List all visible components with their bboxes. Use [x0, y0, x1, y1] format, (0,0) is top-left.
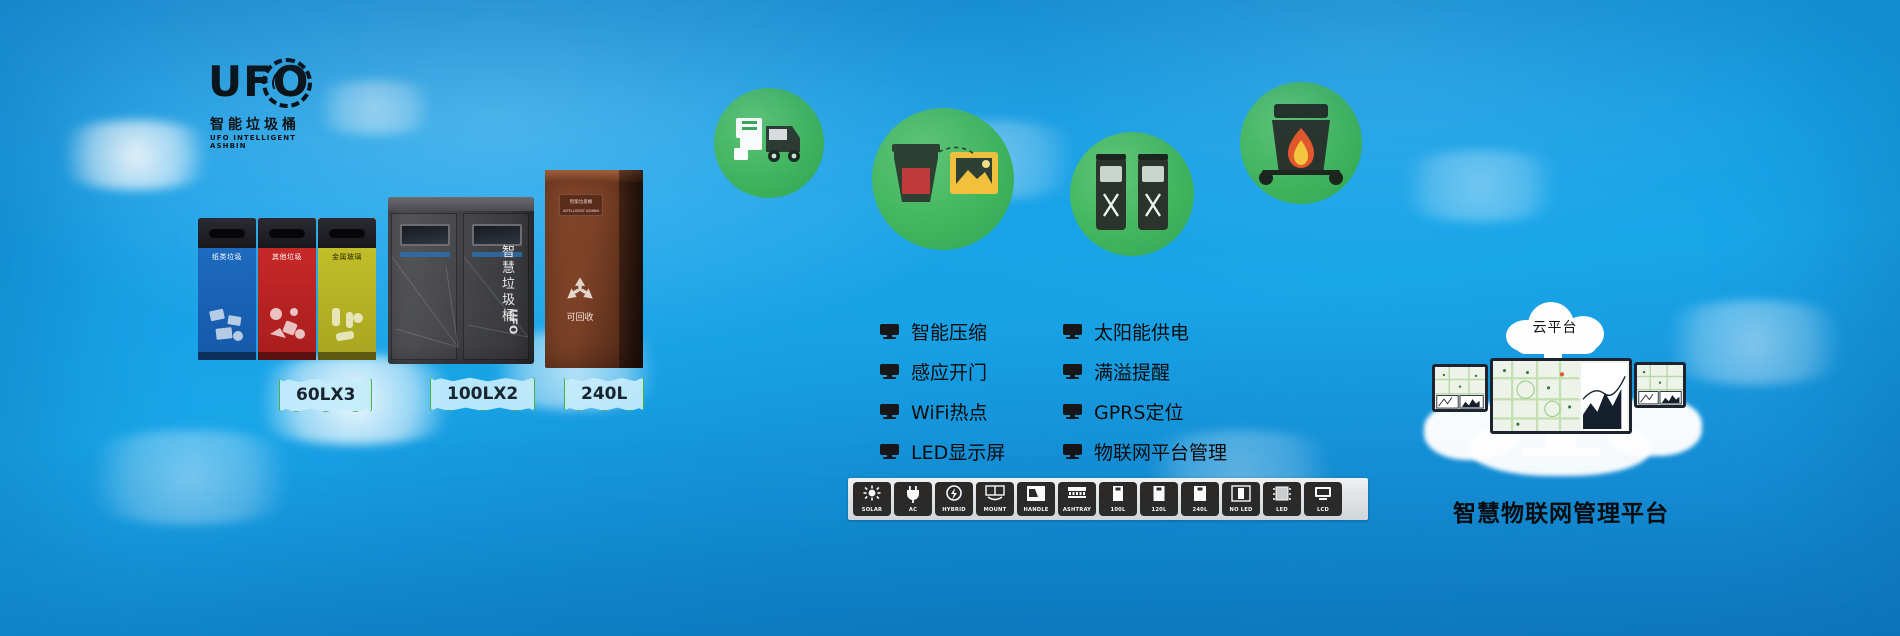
twin-compacting-bin: 智慧垃圾桶 UFO [388, 197, 534, 364]
spec-icon-strip: SOLAR AC HYBRID MOUNT [848, 478, 1368, 520]
twin-bin-circle [1070, 132, 1194, 256]
spec-ashtray: ASHTRAY [1058, 482, 1096, 516]
feature-item: 物联网平台管理 [1063, 438, 1240, 465]
three-compartment-sorting-bin: 纸类垃圾 其他垃圾 [198, 218, 386, 360]
bin-slot [209, 229, 245, 238]
feature-label: 智能压缩 [911, 318, 987, 345]
spec-caption: HANDLE [1023, 507, 1048, 513]
no-led-icon [1230, 485, 1252, 503]
cloud-platform-badge: 云平台 [1506, 300, 1604, 352]
spec-led: LED [1263, 482, 1301, 516]
spec-solar: SOLAR [853, 482, 891, 516]
platform-caption: 智慧物联网管理平台 [1430, 494, 1692, 528]
fire-alarm-circle [1240, 82, 1362, 204]
bin-lid [258, 218, 316, 248]
panel-line-2: INTELLIGENT ASHBIN [560, 209, 602, 213]
spec-caption: SOLAR [862, 507, 882, 513]
feature-label: 太阳能供电 [1094, 318, 1189, 345]
capacity-ribbon-240l: 240L [564, 377, 644, 411]
capacity-ribbon-60lx3: 60LX3 [279, 378, 372, 412]
spec-caption: LED [1276, 507, 1288, 513]
monitor-stand [1522, 448, 1600, 456]
recycle-icon [563, 274, 597, 308]
bin-slot [329, 229, 365, 238]
feature-item: LED显示屏 [880, 438, 1045, 465]
tablet-right-content [1637, 365, 1683, 406]
other-waste-illustration [264, 300, 310, 348]
spec-240l: 240L [1181, 482, 1219, 516]
capacity-ribbon-100lx2: 100LX2 [430, 377, 535, 411]
spec-120l: 120L [1140, 482, 1178, 516]
tablet-left [1432, 364, 1488, 412]
lcd-icon [1312, 485, 1334, 503]
monitor-icon [880, 404, 899, 420]
feature-item: 满溢提醒 [1063, 358, 1240, 385]
spec-handle: HANDLE [1017, 482, 1055, 516]
spec-no-led: NO LED [1222, 482, 1260, 516]
bin-base [258, 352, 316, 360]
monitor-icon [1063, 364, 1082, 380]
bin-lid [198, 218, 256, 248]
spec-ac: AC [894, 482, 932, 516]
spec-lcd: LCD [1304, 482, 1342, 516]
feature-label: 感应开门 [911, 358, 987, 385]
spec-100l: 100L [1099, 482, 1137, 516]
feature-item: GPRS定位 [1063, 398, 1240, 425]
spec-caption: ASHTRAY [1063, 507, 1091, 513]
feature-label: WiFi热点 [911, 398, 987, 425]
monitor-icon [880, 324, 899, 340]
promo-banner: UFO 智能垃圾桶 UFO INTELLIGENT ASHBIN 纸类垃圾 其他… [0, 0, 1900, 636]
cloud-badge-label: 云平台 [1506, 317, 1604, 337]
sun-icon [861, 485, 883, 503]
feature-list: 智能压缩 太阳能供电 感应开门 满溢提醒 WiFi热点 GPRS定位 LED显示… [880, 318, 1240, 465]
monitor-icon [880, 444, 899, 460]
logo-english-name: UFO INTELLIGENT ASHBIN [210, 134, 316, 150]
compartment-label: 纸类垃圾 [198, 252, 256, 262]
spec-caption: HYBRID [942, 507, 965, 513]
led-icon [1271, 485, 1293, 503]
brand-logo: UFO 智能垃圾桶 UFO INTELLIGENT ASHBIN [206, 52, 316, 152]
feature-item: 智能压缩 [880, 318, 1045, 345]
single-recycling-bin: 智能垃圾桶 INTELLIGENT ASHBIN 可回收 [545, 170, 643, 368]
spec-caption: LCD [1317, 507, 1329, 513]
spec-caption: NO LED [1230, 507, 1253, 513]
panel-line-1: 智能垃圾桶 [560, 199, 602, 205]
bin-base [198, 352, 256, 360]
bin-compartment: 金属玻璃 [318, 218, 376, 360]
feature-item: 太阳能供电 [1063, 318, 1240, 345]
bin-recycle-label: 可回收 [557, 310, 603, 323]
paper-waste-illustration [204, 300, 250, 348]
feature-item: WiFi热点 [880, 398, 1045, 425]
bin-100l-icon [1107, 485, 1129, 503]
cloud-decor [300, 80, 450, 135]
solar-panel-bin-icon [872, 108, 1014, 250]
cloud-decor [60, 430, 320, 525]
monitor-icon [1063, 324, 1082, 340]
bin-120l-icon [1148, 485, 1170, 503]
feature-item: 感应开门 [880, 358, 1045, 385]
cloud-decor [1380, 150, 1580, 222]
bin-lid [318, 218, 376, 248]
handle-icon [1025, 485, 1047, 503]
garbage-truck-icon [714, 88, 824, 198]
logo-chinese-name: 智能垃圾桶 [210, 114, 300, 134]
monitor-icon [1063, 444, 1082, 460]
cloud-decor [40, 120, 230, 190]
fire-alarm-bin-icon [1240, 82, 1362, 204]
bin-base [318, 352, 376, 360]
bin-240l-icon [1189, 485, 1211, 503]
compartment-label: 其他垃圾 [258, 252, 316, 262]
compartment-label: 金属玻璃 [318, 252, 376, 262]
tablet-left-content [1435, 367, 1485, 410]
iot-device-group [1430, 358, 1690, 478]
solar-sensor-circle [872, 108, 1014, 250]
bin-side-shade [619, 170, 643, 368]
wall-mount-icon [984, 485, 1006, 503]
ashtray-icon [1066, 485, 1088, 503]
power-plug-icon [902, 485, 924, 503]
spec-caption: MOUNT [984, 507, 1007, 513]
spec-caption: AC [909, 507, 917, 513]
desktop-dashboard-content [1493, 361, 1629, 434]
compaction-truck-circle [714, 88, 824, 198]
feature-label: 物联网平台管理 [1094, 438, 1227, 465]
tablet-right [1634, 362, 1686, 408]
bin-compartment: 其他垃圾 [258, 218, 316, 360]
hybrid-power-icon [943, 485, 965, 503]
feature-label: 满溢提醒 [1094, 358, 1170, 385]
desktop-monitor [1490, 358, 1632, 434]
twin-bin-icon [1070, 132, 1194, 256]
bin-compartment: 纸类垃圾 [198, 218, 256, 360]
spec-caption: 240L [1193, 507, 1208, 513]
spec-mount: MOUNT [976, 482, 1014, 516]
feature-label: GPRS定位 [1094, 398, 1183, 425]
bin-slot [269, 229, 305, 238]
monitor-icon [880, 364, 899, 380]
monitor-icon [1063, 404, 1082, 420]
spec-caption: 120L [1152, 507, 1167, 513]
metal-glass-waste-illustration [324, 300, 370, 348]
bin-info-panel: 智能垃圾桶 INTELLIGENT ASHBIN [559, 194, 603, 216]
bin-brand-label: UFO [506, 309, 519, 335]
spec-hybrid: HYBRID [935, 482, 973, 516]
feature-label: LED显示屏 [911, 438, 1005, 465]
spec-caption: 100L [1111, 507, 1126, 513]
